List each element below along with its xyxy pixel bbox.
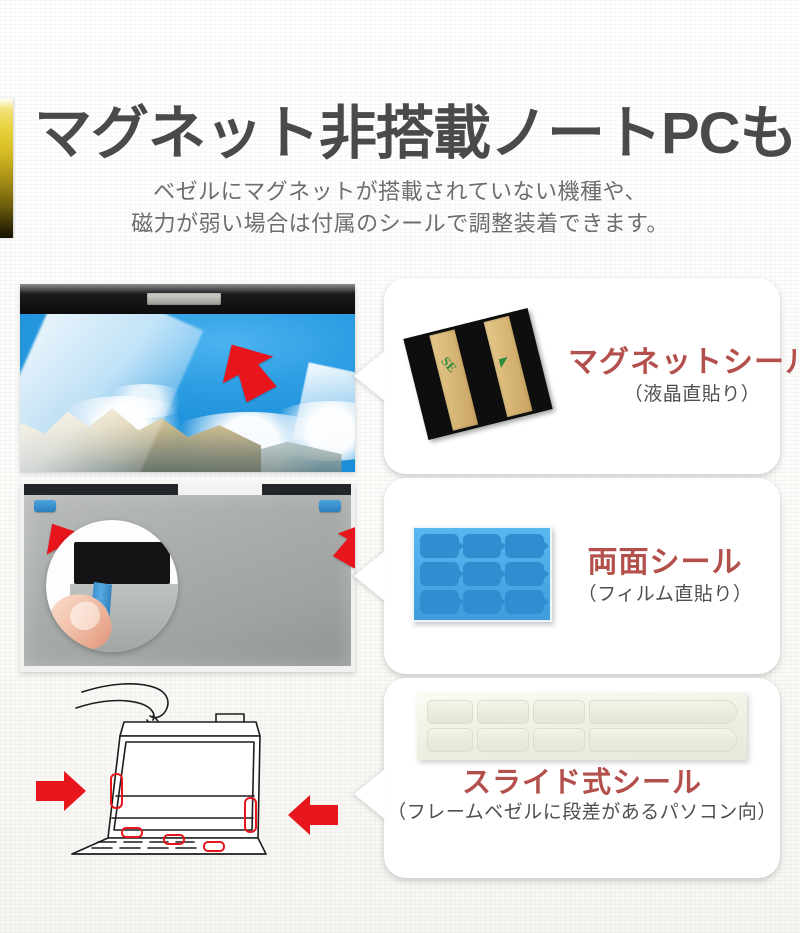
privacy-filter-photo-content — [20, 484, 355, 672]
laptop-photo-content — [20, 284, 355, 472]
callout-text: マグネットシール （液晶直貼り） — [568, 345, 800, 407]
callout-subtitle: （フレームベゼルに段差があるパソコン向） — [387, 802, 776, 824]
double-sided-seal-sheet — [412, 526, 552, 622]
laptop-screen-wallpaper — [20, 314, 355, 472]
privacy-filter-photo — [20, 484, 355, 672]
seal-strip — [533, 700, 585, 724]
seal-tag — [420, 590, 459, 614]
laptop-bezel-top — [24, 484, 351, 495]
seal-tag — [463, 534, 502, 558]
blue-seal-tab-left — [34, 500, 56, 512]
callout-title: マグネットシール — [568, 345, 800, 380]
inset-bezel — [74, 542, 170, 584]
callout-text: スライド式シール （フレームベゼルに段差があるパソコン向） — [387, 766, 776, 868]
callout-body: SE ◤ マグネットシール （液晶直貼り） — [384, 316, 780, 436]
red-arrow-icon — [288, 795, 338, 835]
slide-seal-product — [417, 692, 747, 760]
seal-strip-long — [589, 728, 737, 752]
callout-subtitle: （フィルム直貼り） — [568, 584, 762, 606]
seal-tag — [420, 562, 459, 586]
zoom-inset-circle — [46, 520, 178, 652]
callout-text: 両面シール （フィルム直貼り） — [568, 545, 762, 607]
page-title-particle: も — [740, 105, 797, 163]
magnet-seal-image: SE ◤ — [403, 308, 552, 440]
callout-card-magnet-seal[interactable]: SE ◤ マグネットシール （液晶直貼り） — [384, 278, 780, 474]
seal-strip — [477, 700, 529, 724]
bezel-notch — [178, 484, 262, 495]
laptop-lineart-svg — [20, 678, 355, 878]
slide-seal-diecuts — [427, 700, 737, 752]
callout-card-double-sided-seal[interactable]: 両面シール （フィルム直貼り） — [384, 478, 780, 674]
laptop-screen-photo — [20, 284, 355, 472]
callout-card-slide-seal[interactable]: スライド式シール （フレームベゼルに段差があるパソコン向） — [384, 678, 780, 878]
callout-subtitle: （液晶直貼り） — [568, 384, 800, 406]
magnet-seal-product: SE ◤ — [406, 316, 556, 436]
page-title-main: マグネット非搭載ノートPC — [34, 105, 740, 163]
webcam-strip — [147, 293, 221, 305]
page-subheading: ベゼルにマグネットが搭載されていない機種や、 磁力が弱い場合は付属のシールで調整… — [0, 176, 800, 240]
red-arrow-icon — [36, 771, 86, 811]
lineart-content — [20, 678, 355, 878]
laptop-bezel — [20, 284, 355, 314]
page-title: マグネット非搭載ノートPCもOK — [34, 100, 774, 168]
feature-row-slide-seal: スライド式シール （フレームベゼルに段差があるパソコン向） — [0, 676, 800, 888]
double-sided-seal-product — [406, 516, 556, 636]
feature-row-double-sided-seal: 両面シール （フィルム直貼り） — [0, 478, 800, 678]
seal-tag — [463, 562, 502, 586]
callout-title: スライド式シール — [387, 766, 776, 800]
blue-seal-tab-right — [319, 500, 341, 512]
seal-strip — [427, 728, 473, 752]
seal-strip — [427, 700, 473, 724]
callout-pointer — [354, 550, 386, 602]
seal-tag — [505, 590, 544, 614]
seal-tag — [505, 534, 544, 558]
callout-body: スライド式シール （フレームベゼルに段差があるパソコン向） — [384, 678, 780, 878]
callout-body: 両面シール （フィルム直貼り） — [384, 516, 780, 636]
seal-strip-long — [589, 700, 737, 724]
seal-tag — [463, 590, 502, 614]
page-subheading-line-2: 磁力が弱い場合は付属のシールで調整装着できます。 — [0, 208, 800, 240]
seal-tag — [505, 562, 544, 586]
seal-strip — [533, 728, 585, 752]
page-subheading-line-1: ベゼルにマグネットが搭載されていない機種や、 — [0, 176, 800, 208]
feature-row-magnet-seal: SE ◤ マグネットシール （液晶直貼り） — [0, 278, 800, 478]
seal-tag — [420, 534, 459, 558]
callout-pointer — [354, 350, 386, 402]
callout-pointer — [354, 768, 386, 820]
laptop-lineart-illustration — [20, 678, 355, 878]
magnet-strip-black — [403, 308, 552, 440]
seal-strip — [477, 728, 529, 752]
callout-title: 両面シール — [568, 545, 762, 580]
screen-glare — [292, 362, 355, 451]
